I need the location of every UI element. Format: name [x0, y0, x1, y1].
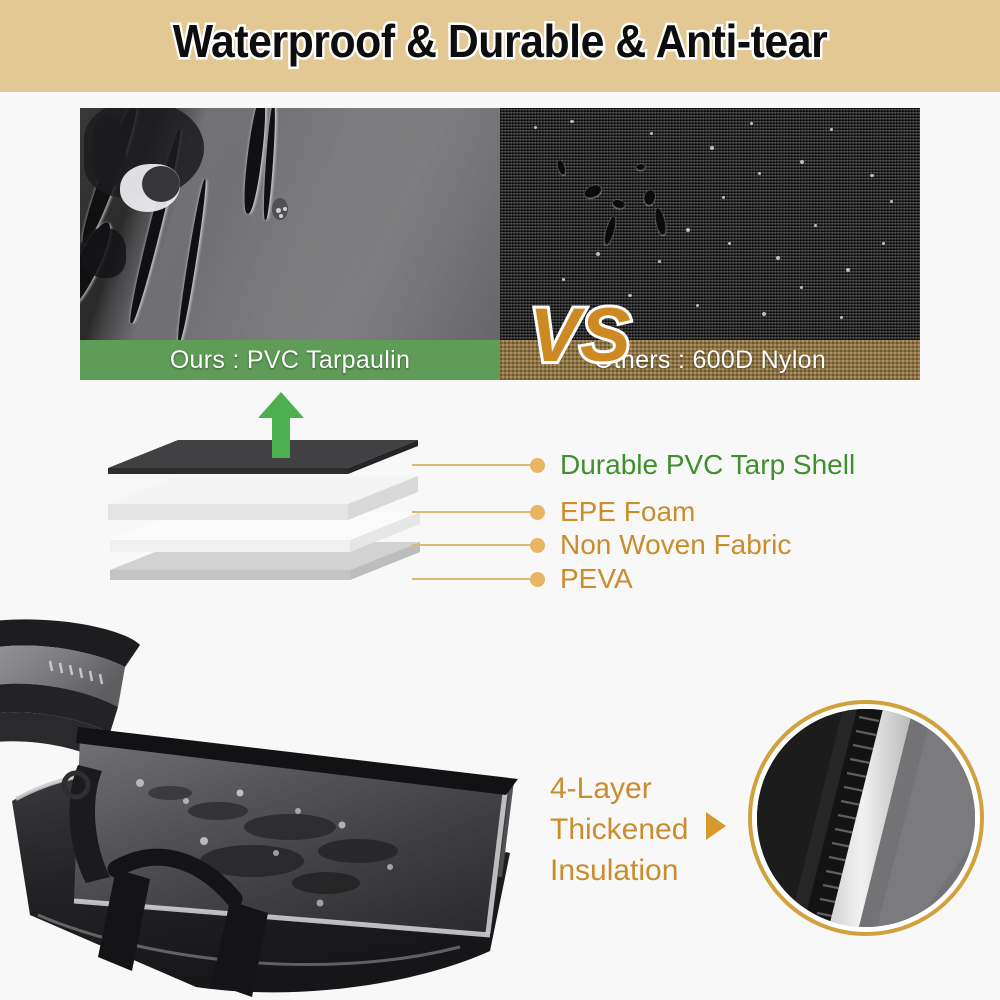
leader-line-4 [412, 578, 530, 580]
layer-label-peva: PEVA [560, 563, 633, 595]
pvc-tarpaulin-photo [80, 108, 500, 340]
page-title: Waterproof & Durable & Anti-tear [35, 14, 965, 68]
leader-line-3 [412, 544, 530, 546]
leader-dot-2 [530, 505, 545, 520]
product-bag-photo [0, 615, 550, 1000]
leader-dot-4 [530, 572, 545, 587]
product-infographic: Waterproof & Durable & Anti-tear [0, 0, 1000, 1000]
label-ours: Ours : PVC Tarpaulin [80, 340, 500, 380]
layer-label-non-woven: Non Woven Fabric [560, 529, 791, 561]
leader-line-1 [412, 464, 530, 466]
caption-line-3: Insulation [550, 850, 730, 891]
comparison-ours: Ours : PVC Tarpaulin [80, 108, 500, 380]
zipper-detail-photo [757, 709, 975, 927]
green-up-arrow-icon [258, 392, 304, 458]
leader-dot-3 [530, 538, 545, 553]
insulation-caption: 4-Layer Thickened Insulation [550, 768, 730, 891]
leader-dot-1 [530, 458, 545, 473]
material-comparison-panel: Ours : PVC Tarpaulin [80, 108, 920, 380]
leader-line-2 [412, 511, 530, 513]
layer-label-epe-foam: EPE Foam [560, 496, 695, 528]
caption-line-1: 4-Layer [550, 768, 730, 809]
vs-badge: VS [510, 298, 650, 374]
layer-label-pvc-shell: Durable PVC Tarp Shell [560, 449, 855, 481]
caption-arrow-icon [706, 812, 726, 840]
header-banner: Waterproof & Durable & Anti-tear [0, 0, 1000, 92]
zipper-illustration [757, 709, 975, 927]
zipper-detail-inset [748, 700, 984, 936]
caption-line-2: Thickened [550, 809, 730, 850]
